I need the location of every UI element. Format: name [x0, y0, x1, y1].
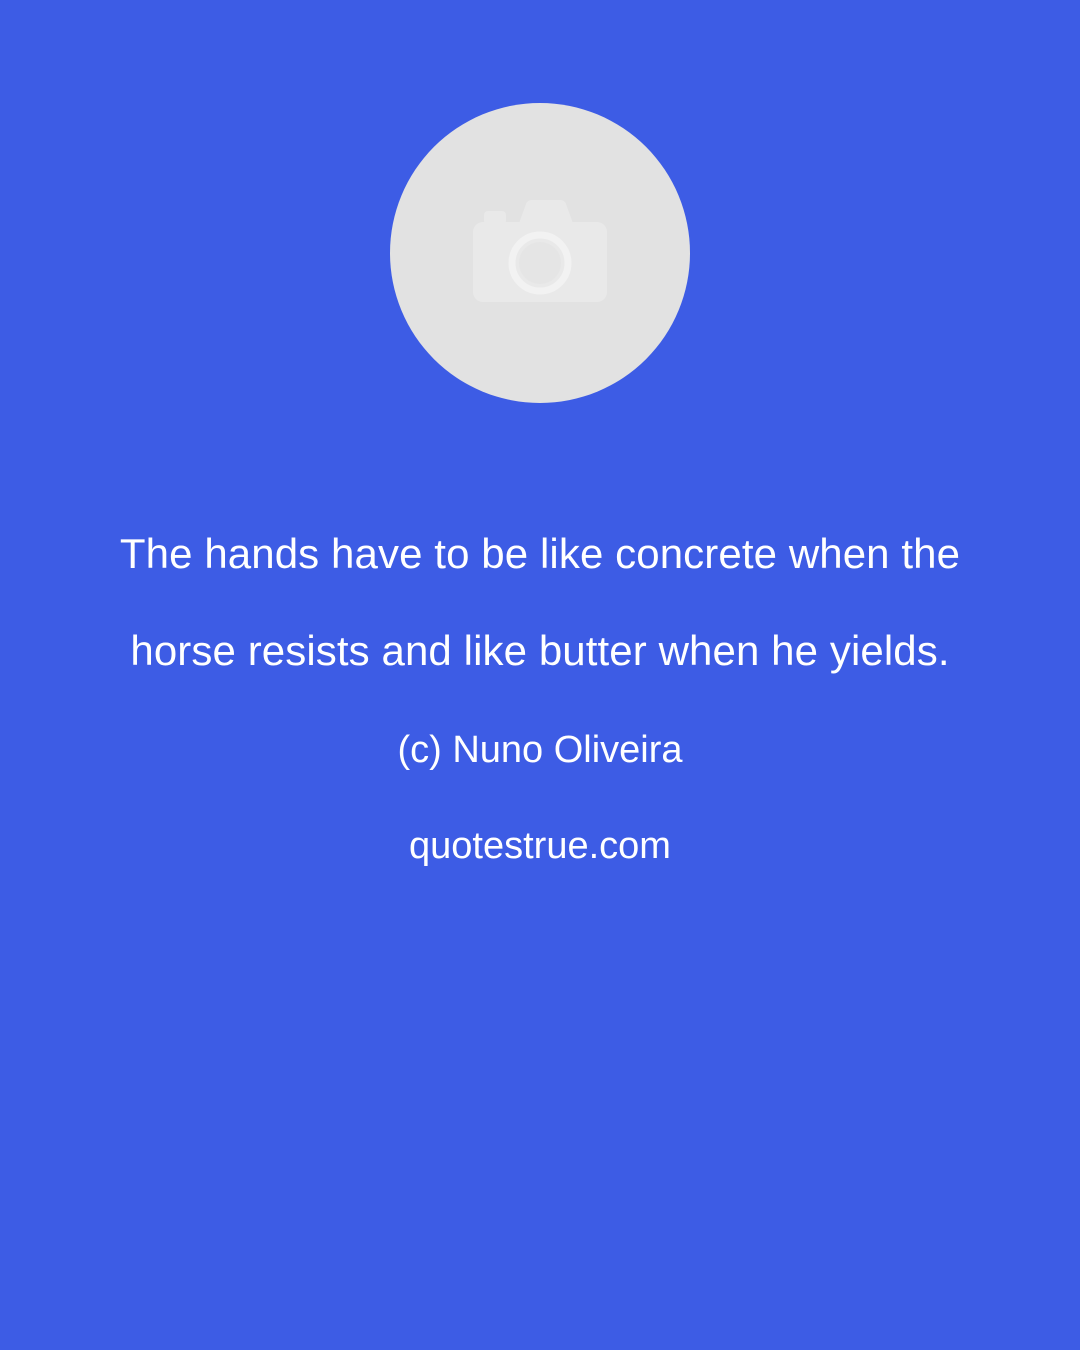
quote-text: The hands have to be like concrete when … [56, 505, 1024, 699]
quote-card: The hands have to be like concrete when … [0, 0, 1080, 1350]
avatar-container [0, 103, 1080, 403]
avatar[interactable] [390, 103, 690, 403]
quote-text-block: The hands have to be like concrete when … [0, 505, 1080, 872]
quote-author: (c) Nuno Oliveira [56, 724, 1024, 776]
website-label[interactable]: quotestrue.com [56, 820, 1024, 872]
camera-placeholder-icon [470, 198, 610, 308]
